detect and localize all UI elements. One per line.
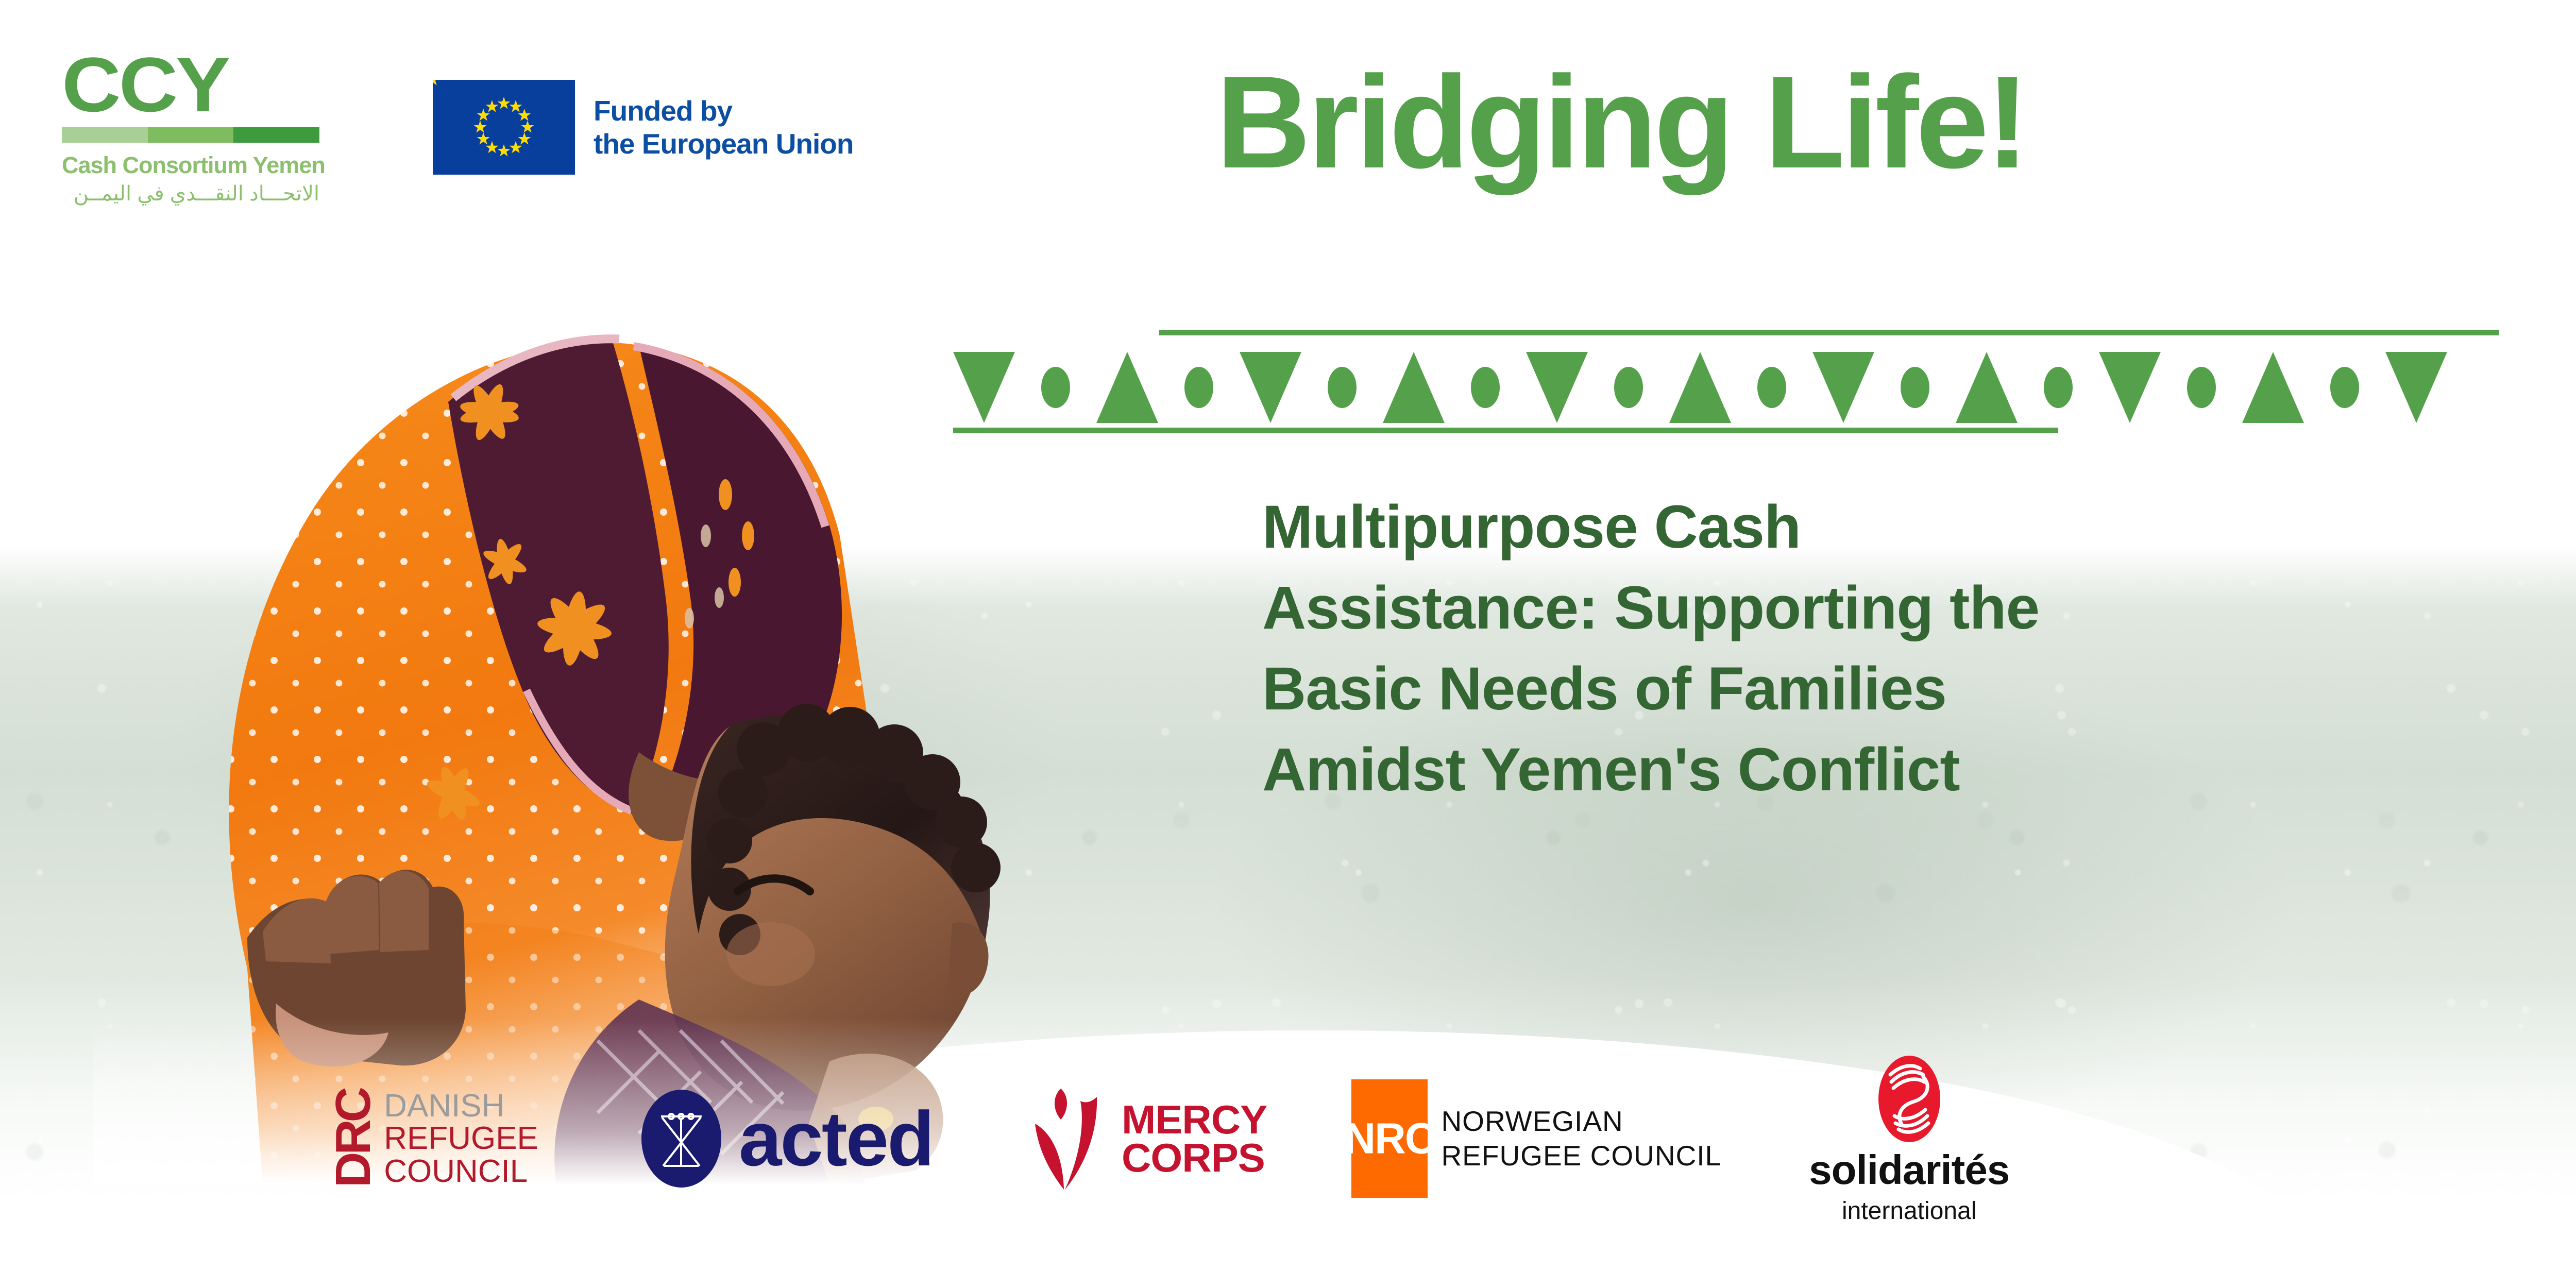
acted-emblem-icon: [641, 1090, 721, 1188]
page-title: Bridging Life!: [1216, 57, 2026, 188]
ornament-circle-icon: [1901, 367, 1929, 408]
ornament-triangle-down-icon: [2099, 352, 2161, 423]
partner-logo-nrc[interactable]: NRC NORWEGIAN REFUGEE COUNCIL: [1351, 1079, 1721, 1198]
ccy-color-bars: [62, 127, 319, 143]
hero-photo: [93, 206, 1190, 1185]
eu-flag-icon: [433, 80, 575, 175]
ornament-circle-icon: [2044, 367, 2073, 408]
partner-logo-mercy-corps[interactable]: MERCY CORPS: [1031, 1083, 1264, 1194]
ccy-bar-3: [233, 127, 319, 143]
ornament-circle-icon: [1328, 367, 1357, 408]
ccy-bar-2: [148, 127, 234, 143]
drc-line-3: COUNCIL: [384, 1155, 538, 1188]
ornament-triangle-up-icon: [1669, 352, 1731, 423]
ornament-circle-icon: [1471, 367, 1500, 408]
ornament-circle-icon: [2330, 367, 2359, 408]
partner-logo-solidarites[interactable]: solidarités international: [1809, 1054, 2009, 1224]
ornament-circle-icon: [2187, 367, 2216, 408]
eu-funding-line-1: Funded by: [594, 94, 854, 127]
mercy-corps-leaf-icon: [1031, 1083, 1108, 1194]
page-subtitle-line-3: Basic Needs of Families: [1262, 649, 2540, 730]
nrc-line-2: REFUGEE COUNCIL: [1441, 1139, 1721, 1173]
divider-rule-top: [1159, 330, 2499, 335]
acted-wordmark: acted: [739, 1100, 933, 1177]
ornament-triangle-down-icon: [1526, 352, 1588, 423]
ornament-circle-icon: [1757, 367, 1786, 408]
eu-funding-text: Funded by the European Union: [594, 94, 854, 161]
ccy-acronym: CCY: [62, 49, 357, 120]
drc-wordmark: DANISH REFUGEE COUNCIL: [384, 1090, 538, 1188]
ornament-triangle-up-icon: [1383, 352, 1445, 423]
mercy-corps-line-2: CORPS: [1122, 1139, 1267, 1177]
eu-funding-block: Funded by the European Union: [433, 80, 854, 175]
ornament-triangle-down-icon: [1812, 352, 1874, 423]
campaign-banner: CCY Cash Consortium Yemen الاتحـــاد الن…: [0, 0, 2576, 1288]
page-subtitle: Multipurpose Cash Assistance: Supporting…: [1262, 487, 2540, 810]
ornament-triangle-up-icon: [2242, 352, 2304, 423]
ccy-bar-1: [62, 127, 148, 143]
drc-line-2: REFUGEE: [384, 1122, 538, 1155]
page-subtitle-line-1: Multipurpose Cash: [1262, 487, 2540, 568]
page-subtitle-line-2: Assistance: Supporting the: [1262, 568, 2540, 649]
eu-funding-line-2: the European Union: [594, 127, 854, 160]
ccy-name-arabic: الاتحـــاد النقـــدي في اليمــن: [62, 182, 319, 206]
partner-logo-acted[interactable]: acted: [641, 1090, 933, 1188]
mercy-corps-line-1: MERCY: [1122, 1100, 1267, 1139]
ornament-triangle-up-icon: [1956, 352, 2018, 423]
solidarites-subword: international: [1842, 1199, 1977, 1224]
nrc-mark: NRC: [1344, 1114, 1435, 1164]
drc-line-1: DANISH: [384, 1090, 538, 1122]
ccy-name-english: Cash Consortium Yemen: [62, 152, 340, 179]
ccy-logo: CCY Cash Consortium Yemen الاتحـــاد الن…: [62, 49, 340, 206]
ornament-circle-icon: [1614, 367, 1643, 408]
nrc-mark-box: NRC: [1351, 1079, 1428, 1198]
nrc-wordmark: NORWEGIAN REFUGEE COUNCIL: [1441, 1104, 1721, 1173]
partner-logo-drc[interactable]: DRC DANISH REFUGEE COUNCIL: [330, 1090, 538, 1188]
page-subtitle-line-4: Amidst Yemen's Conflict: [1262, 730, 2540, 810]
solidarites-hands-icon: [1876, 1054, 1943, 1144]
ornament-triangle-down-icon: [1240, 352, 1301, 423]
solidarites-wordmark: solidarités: [1809, 1149, 2009, 1191]
mercy-corps-wordmark: MERCY CORPS: [1122, 1100, 1267, 1177]
drc-mark: DRC: [330, 1090, 377, 1188]
nrc-line-1: NORWEGIAN: [1441, 1104, 1721, 1139]
ornament-triangle-down-icon: [2385, 352, 2447, 423]
partner-logo-strip: DRC DANISH REFUGEE COUNCIL: [330, 1046, 2360, 1231]
